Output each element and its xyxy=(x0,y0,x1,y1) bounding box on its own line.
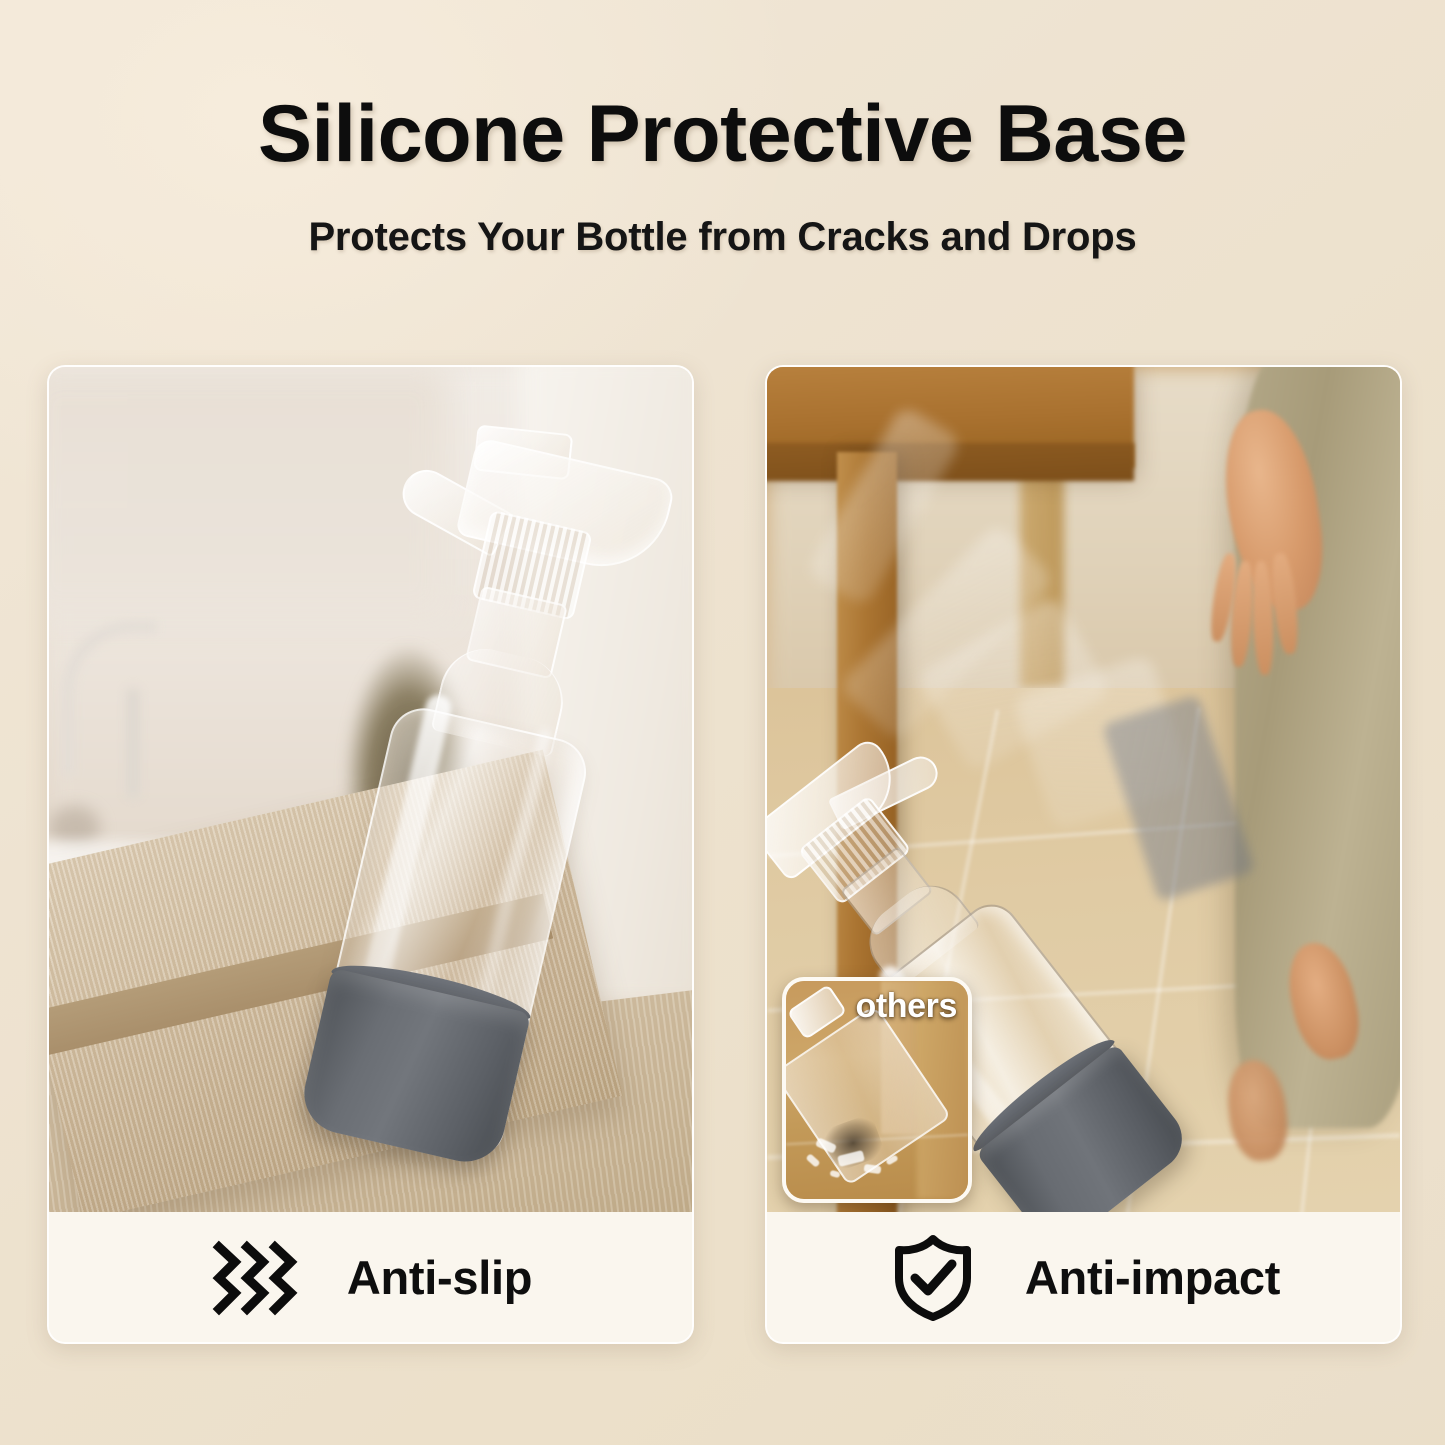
inset-label-text: others xyxy=(855,987,957,1026)
product-feature-graphic: Silicone Protective Base Protects Your B… xyxy=(0,0,1445,1445)
faucet-stem xyxy=(126,688,140,798)
feature-label-text: Anti-impact xyxy=(1025,1250,1280,1305)
feature-label-anti-impact: Anti-impact xyxy=(767,1212,1400,1342)
shield-check-icon xyxy=(887,1231,979,1323)
sink-drain xyxy=(49,806,100,848)
photo-anti-impact: others xyxy=(767,367,1400,1212)
tiled-floor-scene: others xyxy=(767,367,1400,1212)
bathroom-scene xyxy=(49,367,692,1212)
feature-label-text: Anti-slip xyxy=(347,1250,532,1305)
photo-anti-slip xyxy=(49,367,692,1212)
zigzag-wave-icon xyxy=(209,1231,301,1323)
page-subtitle: Protects Your Bottle from Cracks and Dro… xyxy=(0,215,1445,260)
feature-label-anti-slip: Anti-slip xyxy=(49,1212,692,1342)
page-title: Silicone Protective Base xyxy=(0,92,1445,177)
wall-panel xyxy=(49,367,448,621)
feature-card-anti-slip: Anti-slip xyxy=(47,365,694,1344)
feature-card-anti-impact: others Anti-impact xyxy=(765,365,1402,1344)
others-comparison-inset: others xyxy=(782,977,972,1203)
